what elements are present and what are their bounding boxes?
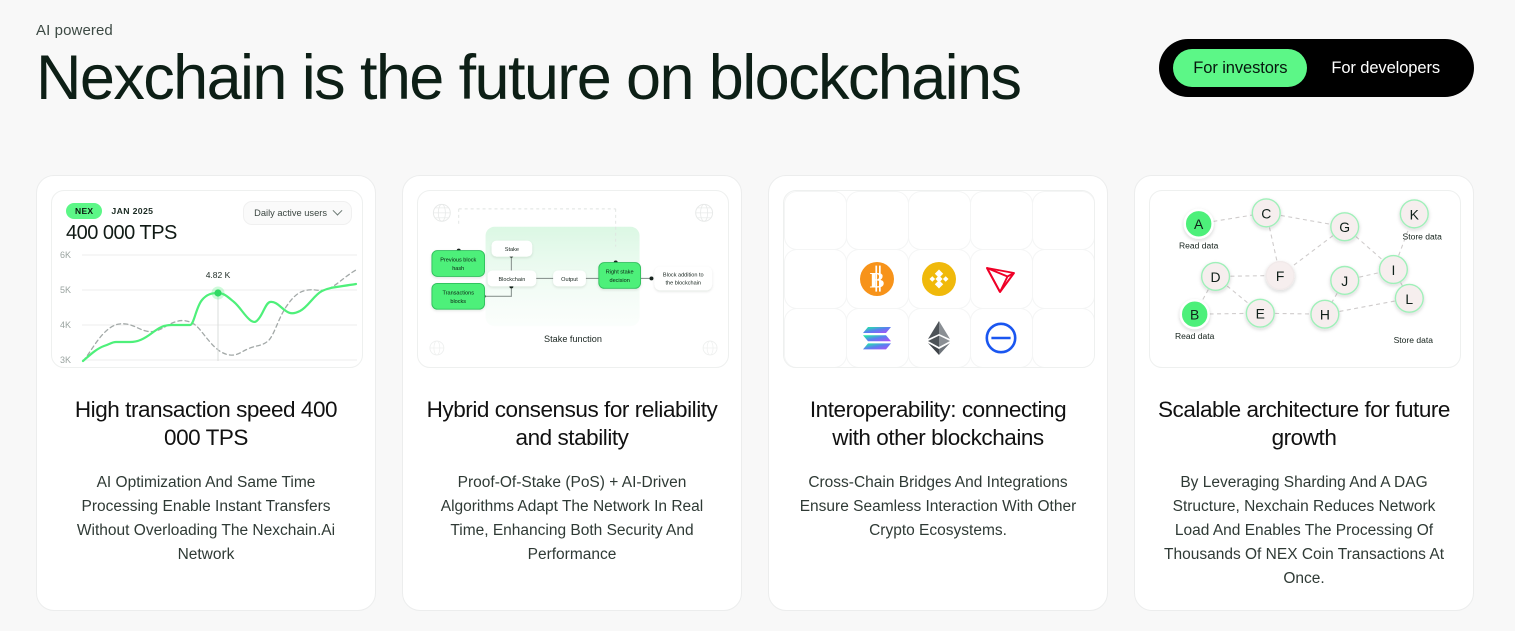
svg-text:C: C [1261, 205, 1271, 221]
svg-text:D: D [1211, 269, 1221, 285]
tps-line-chart: 6K 5K 4K 3K 4.82 K [52, 245, 363, 368]
graph-node-k[interactable]: K Store data [1400, 200, 1442, 242]
flow-node-block-addition: Block addition to the blockchain [654, 267, 712, 291]
card-title: Scalable architecture for future growth [1149, 396, 1459, 453]
feature-card-transaction-speed: NEX JAN 2025 400 000 TPS Daily active us… [36, 175, 376, 611]
chain-logo-panel: B [783, 190, 1095, 368]
flow-node-blockchain: Blockchain [488, 270, 537, 286]
tron-icon [983, 262, 1019, 296]
svg-text:F: F [1276, 268, 1285, 284]
chain-cell-empty [1032, 191, 1095, 251]
globe-icon [703, 341, 717, 355]
chart-panel: NEX JAN 2025 400 000 TPS Daily active us… [51, 190, 363, 368]
flow-node-previous-block-hash: Previous block hash [432, 251, 485, 277]
svg-text:J: J [1341, 273, 1348, 289]
chain-cell-empty [784, 249, 847, 309]
globe-icon [430, 341, 444, 355]
toggle-option-developers[interactable]: For developers [1311, 49, 1460, 88]
chain-cell-empty [908, 191, 971, 251]
chart-date: JAN 2025 [111, 206, 153, 216]
bitcoin-icon: B [860, 262, 894, 296]
card-body: AI Optimization And Same Time Processing… [51, 471, 361, 567]
svg-text:Right stake: Right stake [606, 269, 634, 275]
nex-badge: NEX [66, 203, 102, 219]
graph-node-b-caption: Read data [1175, 331, 1215, 341]
chain-cell-empty [846, 191, 909, 251]
chart-metric-label: Daily active users [254, 208, 327, 218]
chevron-down-icon [333, 205, 343, 215]
svg-text:A: A [1194, 216, 1204, 232]
graph-node-e[interactable]: E [1246, 299, 1274, 327]
graph-node-i[interactable]: I [1379, 256, 1407, 284]
chain-cell-empty [970, 191, 1033, 251]
toggle-option-investors[interactable]: For investors [1173, 49, 1307, 88]
svg-text:decision: decision [609, 278, 629, 284]
flow-node-output: Output [553, 270, 586, 286]
chart-series-dashed [83, 270, 356, 361]
chain-cell-tron[interactable] [970, 249, 1033, 309]
svg-text:Stake: Stake [505, 247, 519, 253]
feature-card-scalable-architecture: A Read data B Read data C [1134, 175, 1474, 611]
chain-grid: B [784, 191, 1094, 367]
graph-node-k-caption: Store data [1403, 232, 1443, 242]
graph-node-l[interactable]: L Store data [1394, 284, 1434, 345]
graph-node-d[interactable]: D [1202, 263, 1230, 291]
chain-cell-empty [1032, 249, 1095, 309]
graph-node-b[interactable]: B Read data [1175, 300, 1215, 341]
y-tick-6k: 6K [60, 250, 71, 260]
graph-node-l-caption: Store data [1394, 335, 1434, 345]
card-body: By Leveraging Sharding And A DAG Structu… [1149, 471, 1459, 591]
feature-card-list: NEX JAN 2025 400 000 TPS Daily active us… [36, 175, 1474, 611]
card-body: Proof-Of-Stake (PoS) + AI-Driven Algorit… [417, 471, 727, 567]
y-tick-3k: 3K [60, 355, 71, 365]
chain-cell-internet-computer[interactable] [970, 308, 1033, 368]
svg-text:hash: hash [452, 266, 464, 272]
globe-icon [433, 204, 450, 221]
svg-text:I: I [1391, 262, 1395, 278]
graph-node-g[interactable]: G [1331, 213, 1359, 241]
flow-node-stake: Stake [492, 241, 533, 257]
hero-eyebrow: AI powered [36, 22, 1476, 40]
stake-function-caption: Stake function [544, 334, 602, 344]
svg-text:H: H [1320, 307, 1330, 323]
graph-node-a-caption: Read data [1179, 241, 1219, 251]
ethereum-icon [927, 320, 951, 356]
chain-cell-empty [784, 191, 847, 251]
chart-metric-select[interactable]: Daily active users [243, 201, 352, 225]
chain-cell-solana[interactable] [846, 308, 909, 368]
svg-text:G: G [1339, 219, 1350, 235]
chain-cell-bitcoin[interactable]: B [846, 249, 909, 309]
flow-node-right-stake-decision: Right stake decision [599, 263, 641, 289]
chart-tooltip-value: 4.82 K [206, 270, 231, 280]
y-tick-4k: 4K [60, 320, 71, 330]
graph-node-f[interactable]: F [1266, 262, 1294, 290]
chart-marker-dot[interactable] [214, 289, 221, 296]
svg-text:L: L [1405, 291, 1413, 307]
flow-node-transactions-blocks: Transactions blocks [432, 283, 485, 309]
svg-text:Output: Output [561, 277, 578, 283]
node-graph-panel: A Read data B Read data C [1149, 190, 1461, 368]
stake-flow-panel: Previous block hash Transactions blocks … [417, 190, 729, 368]
chain-cell-empty [1032, 308, 1095, 368]
svg-text:Block addition to: Block addition to [663, 272, 704, 278]
bnb-icon [922, 262, 956, 296]
svg-text:Blockchain: Blockchain [498, 277, 525, 283]
chain-cell-bnb[interactable] [908, 249, 971, 309]
svg-text:E: E [1256, 306, 1265, 322]
graph-node-h[interactable]: H [1311, 300, 1339, 328]
card-title: High transaction speed 400 000 TPS [51, 396, 361, 453]
stake-flow-diagram: Previous block hash Transactions blocks … [418, 191, 728, 368]
feature-card-interoperability: B [768, 175, 1108, 611]
svg-text:B: B [1190, 307, 1199, 323]
card-body: Cross-Chain Bridges And Integrations Ens… [783, 471, 1093, 543]
y-tick-5k: 5K [60, 285, 71, 295]
graph-node-a[interactable]: A Read data [1179, 210, 1219, 251]
svg-text:blocks: blocks [450, 299, 466, 305]
feature-card-hybrid-consensus: Previous block hash Transactions blocks … [402, 175, 742, 611]
svg-text:B: B [870, 267, 885, 292]
svg-text:the blockchain: the blockchain [666, 280, 701, 286]
chart-value: 400 000 TPS [66, 222, 350, 245]
globe-icon [696, 204, 713, 221]
chain-cell-ethereum[interactable] [908, 308, 971, 368]
svg-text:Previous block: Previous block [440, 258, 476, 264]
graph-node-j[interactable]: J [1331, 267, 1359, 295]
graph-node-c[interactable]: C [1252, 199, 1280, 227]
page-root: AI powered Nexchain is the future on blo… [0, 0, 1515, 631]
dag-node-graph: A Read data B Read data C [1150, 191, 1460, 368]
audience-toggle[interactable]: For investors For developers [1159, 39, 1474, 97]
chain-cell-empty [784, 308, 847, 368]
internet-computer-icon [984, 321, 1018, 355]
card-title: Hybrid consensus for reliability and sta… [417, 396, 727, 453]
svg-text:Transactions: Transactions [442, 290, 474, 296]
solana-icon [860, 323, 894, 353]
svg-text:K: K [1410, 206, 1420, 222]
card-title: Interoperability: connecting with other … [783, 396, 1093, 453]
flow-port [649, 276, 653, 280]
